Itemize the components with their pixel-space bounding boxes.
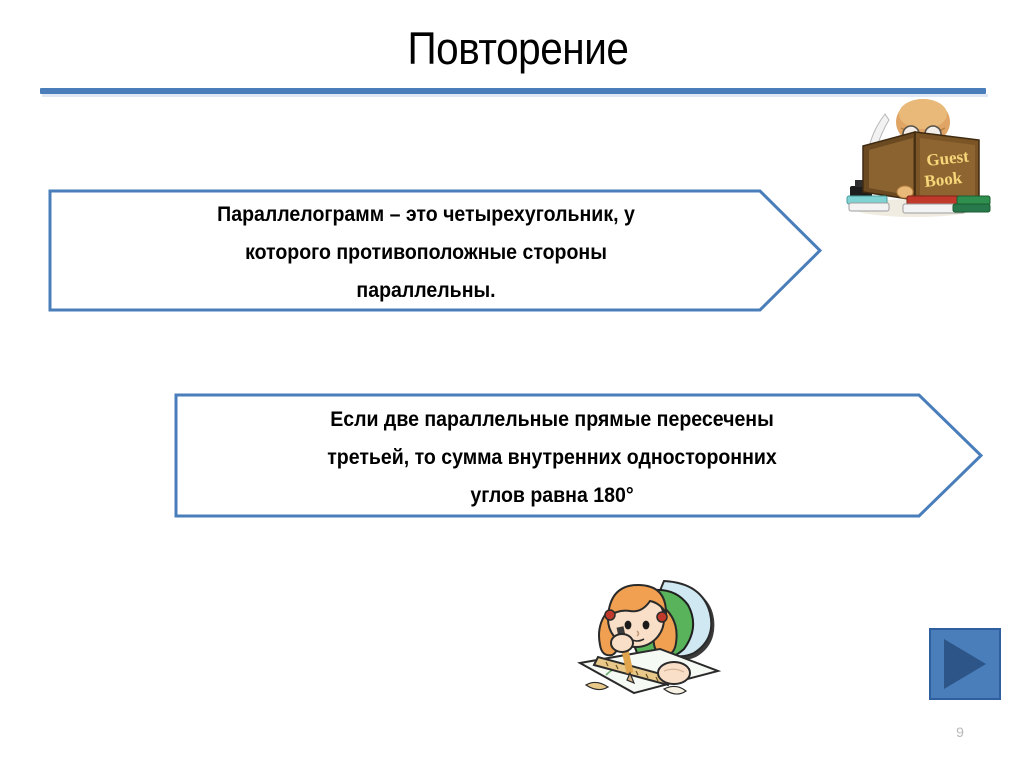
callout-1-line-3: параллельны. [82,272,770,310]
callout-parallel-lines-theorem: Если две параллельные прямые пересечены … [174,393,984,518]
page-title: Повторение [95,18,941,80]
title-underline [40,88,986,94]
next-slide-button[interactable] [929,628,1001,700]
book-title-line-2: Book [923,168,963,191]
page-number: 9 [940,724,980,740]
slide-canvas: Повторение Параллелограмм – это четыреху… [0,0,1024,767]
callout-1-text: Параллелограмм – это четырехугольник, у … [82,193,770,308]
callout-parallelogram-definition: Параллелограмм – это четырехугольник, у … [48,189,823,312]
callout-2-text: Если две параллельные прямые пересечены … [208,397,896,514]
guest-book-illustration: Guest Book [845,96,993,218]
callout-2-line-3: углов равна 180° [208,477,896,515]
girl-drawing-clipart [572,567,724,703]
callout-2-line-2: третьей, то сумма внутренних односторонн… [208,439,896,477]
callout-1-line-2: которого противоположные стороны [82,234,770,272]
play-triangle-icon [944,639,986,689]
callout-1-line-1: Параллелограмм – это четырехугольник, у [82,196,770,234]
guest-book-clipart: Guest Book [845,96,993,218]
girl-drawing-illustration [572,567,724,703]
callout-2-line-1: Если две параллельные прямые пересечены [208,401,896,439]
